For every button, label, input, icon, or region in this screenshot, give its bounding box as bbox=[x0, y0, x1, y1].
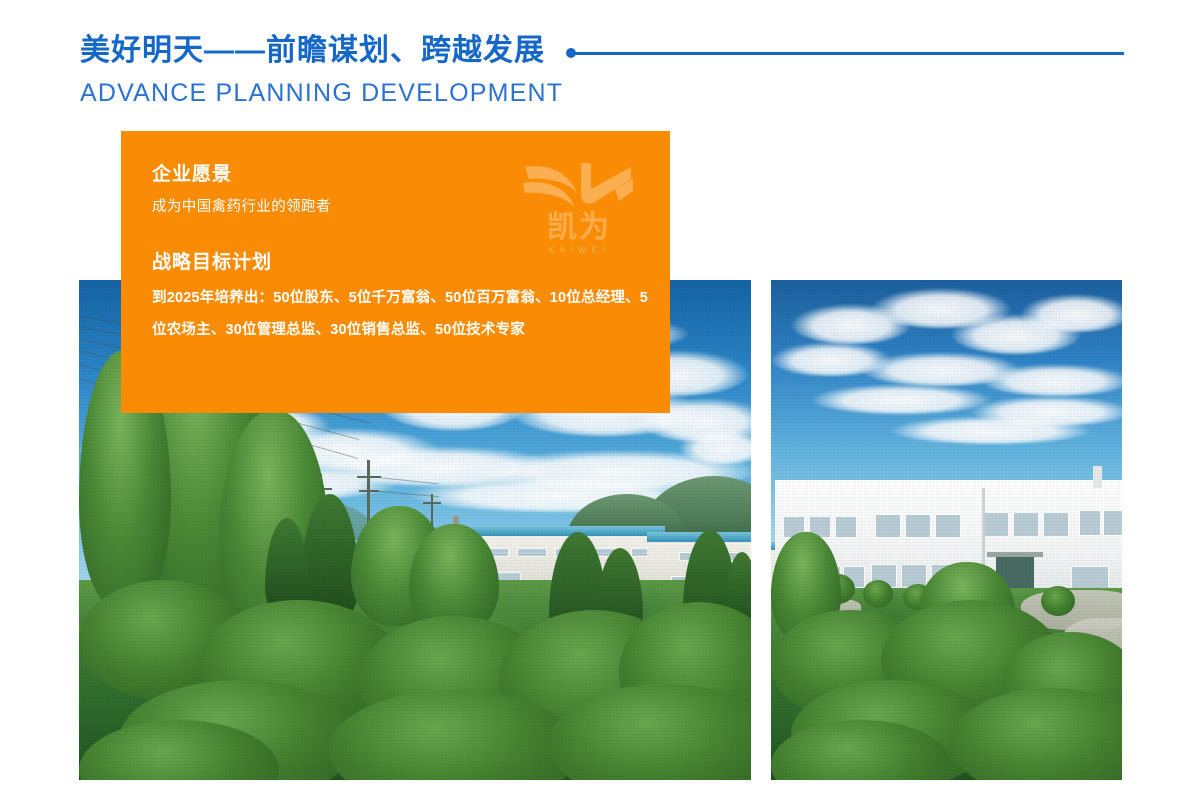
strategy-heading: 战略目标计划 bbox=[152, 250, 650, 276]
vision-text: 成为中国禽药行业的领跑者 bbox=[152, 196, 650, 218]
photo-office-building-view bbox=[771, 280, 1122, 780]
page-header: 美好明天——前瞻谋划、跨越发展 ADVANCE PLANNING DEVELOP… bbox=[0, 0, 1200, 120]
vision-heading: 企业愿景 bbox=[152, 162, 650, 188]
page-subtitle: ADVANCE PLANNING DEVELOPMENT bbox=[80, 78, 563, 108]
page-title: 美好明天——前瞻谋划、跨越发展 bbox=[80, 33, 545, 69]
vision-strategy-panel: 凯为 KAIWEI 企业愿景 成为中国禽药行业的领跑者 战略目标计划 到2025… bbox=[121, 131, 670, 413]
divider-line bbox=[574, 52, 1124, 55]
slide-page: 美好明天——前瞻谋划、跨越发展 ADVANCE PLANNING DEVELOP… bbox=[0, 0, 1200, 793]
panel-content: 企业愿景 成为中国禽药行业的领跑者 战略目标计划 到2025年培养出：50位股东… bbox=[152, 162, 650, 346]
header-divider bbox=[566, 47, 1126, 59]
strategy-text: 到2025年培养出：50位股东、5位千万富翁、50位百万富翁、10位总经理、5位… bbox=[152, 282, 650, 346]
